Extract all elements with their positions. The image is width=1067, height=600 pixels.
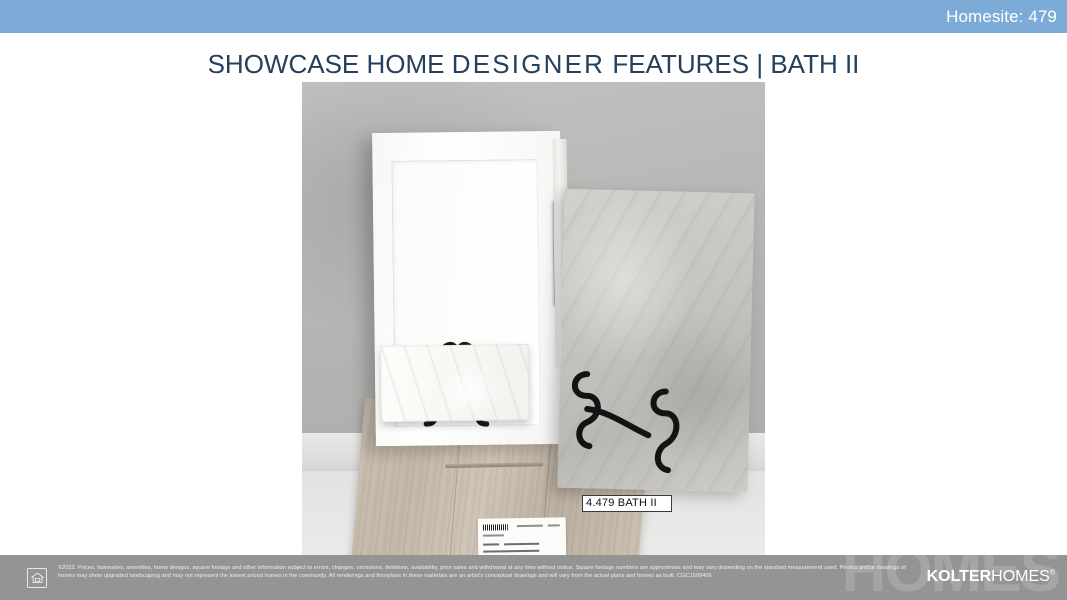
sticker-line: [483, 550, 538, 553]
slide-page: Homesite: 479 SHOWCASE HOME DESIGNER FEA…: [0, 0, 1067, 600]
header-bar: Homesite: 479: [0, 0, 1067, 33]
logo-registered-mark: ®: [1050, 570, 1055, 577]
feature-photo: [302, 82, 765, 556]
photo-caption-label: 4.479 BATH II: [582, 495, 672, 512]
logo-homes: HOMES: [991, 568, 1050, 585]
legal-disclaimer: ©2022. Prices, homesites, amenities, hom…: [58, 564, 918, 580]
equal-housing-opportunity-icon: [27, 568, 47, 588]
page-title-part3: FEATURES: [605, 49, 756, 79]
sticker-line: [483, 534, 504, 536]
page-title-part1: SHOWCASE HOME: [208, 49, 452, 79]
footer-bar: HOMES ©2022. Prices, homesites, amenitie…: [0, 555, 1067, 600]
homesite-label: Homesite: 479: [946, 7, 1067, 27]
logo-kolter: KOLTER: [927, 568, 992, 585]
sticker-line: [548, 525, 559, 527]
page-title-part4: | BATH II: [756, 49, 859, 79]
flooring-product-sticker: [478, 517, 567, 556]
quartz-countertop-sample: [380, 344, 529, 422]
plank-dowel: [445, 462, 543, 468]
page-title: SHOWCASE HOME DESIGNER FEATURES | BATH I…: [0, 49, 1067, 80]
easel-stand-tile: [561, 343, 714, 495]
kolter-homes-logo: KOLTERHOMES®: [927, 568, 1055, 586]
sticker-line: [483, 543, 499, 545]
barcode-icon: [483, 524, 508, 531]
page-title-part2: DESIGNER: [452, 49, 605, 79]
sticker-line: [516, 525, 542, 527]
sticker-line: [504, 543, 539, 546]
